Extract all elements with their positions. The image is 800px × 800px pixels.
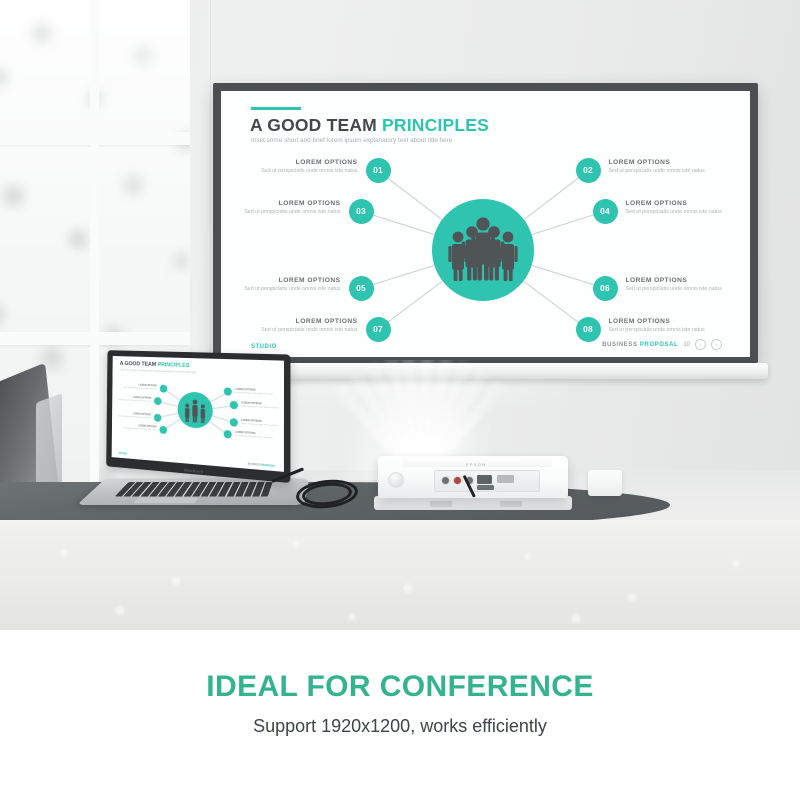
mini-title-accent: PRINCIPLES [158, 362, 190, 369]
diagram-label-heading: LOREM OPTIONS [626, 277, 751, 284]
diagram-label-desc: Sed ut perspiciatis unde omnis iste natu… [221, 168, 358, 174]
presentation-slide: A GOOD TEAM PRINCIPLES Inset some short … [221, 91, 750, 357]
mini-diagram-node-01 [160, 385, 168, 393]
diagram-label-heading: LOREM OPTIONS [626, 200, 751, 207]
projection-screen-canvas: A GOOD TEAM PRINCIPLES Inset some short … [221, 91, 750, 357]
port-audio-red[interactable] [453, 476, 462, 485]
diagram-node-03[interactable]: 03 [349, 199, 374, 224]
mini-diagram-label-04: LOREM OPTIONSSed ut perspiciatis unde om… [241, 401, 284, 410]
port-vga[interactable] [477, 475, 492, 484]
port-hdmi-lower[interactable] [477, 485, 494, 490]
product-feature-image: A GOOD TEAM PRINCIPLES Inset some short … [0, 0, 800, 800]
mini-diagram-label-08: LOREM OPTIONSSed ut perspiciatis unde om… [235, 431, 283, 440]
mini-diagram-node-03 [154, 397, 162, 405]
mini-diagram-node-06 [230, 418, 238, 427]
laptop-screen: A GOOD TEAM PRINCIPLES Inset some short … [112, 356, 284, 472]
slide-title-main: A GOOD TEAM [250, 115, 382, 135]
mini-diagram-spoke [161, 402, 178, 407]
mini-footer-label: BUSINESS PROPOSAL [248, 463, 276, 468]
slide-subtitle: Inset some short and brief lorem ipsum e… [251, 137, 452, 144]
mini-diagram-label-06: LOREM OPTIONSSed ut perspiciatis unde om… [241, 419, 284, 428]
diagram-label-desc: Sed ut perspiciatis unde omnis iste natu… [609, 168, 751, 174]
mini-diagram-label-03: LOREM OPTIONSSed ut perspiciatis unde om… [112, 395, 152, 403]
slide-footer-label: BUSINESS PROPOSAL [602, 342, 678, 348]
carpet [0, 520, 800, 630]
banner-headline: IDEAL FOR CONFERENCE [0, 670, 800, 704]
diagram-label-06: LOREM OPTIONSSed ut perspiciatis unde om… [626, 277, 751, 292]
carpet-texture [0, 520, 800, 630]
projector-vent [430, 501, 452, 507]
diagram-node-number: 02 [583, 165, 593, 175]
diagram-label-heading: LOREM OPTIONS [221, 318, 358, 325]
slide-page-number: 10 [683, 342, 690, 348]
slide-footer-right: BUSINESS PROPOSAL 10 ‹ › [602, 339, 722, 350]
photo-scene: A GOOD TEAM PRINCIPLES Inset some short … [0, 0, 800, 630]
mini-diagram-labels: LOREM OPTIONSSed ut perspiciatis unde om… [113, 356, 284, 361]
diagram-node-04[interactable]: 04 [593, 199, 618, 224]
diagram-label-03: LOREM OPTIONSSed ut perspiciatis unde om… [221, 200, 341, 215]
laptop-keyboard[interactable] [115, 482, 273, 496]
diagram-node-06[interactable]: 06 [593, 276, 618, 301]
mini-diagram-label-07: LOREM OPTIONSSed ut perspiciatis unde om… [115, 423, 157, 432]
chevron-left-icon[interactable]: ‹ [695, 339, 706, 350]
title-accent-bar [251, 107, 301, 110]
diagram-node-05[interactable]: 05 [349, 276, 374, 301]
diagram-label-heading: LOREM OPTIONS [609, 159, 751, 166]
projection-screen: A GOOD TEAM PRINCIPLES Inset some short … [213, 83, 758, 363]
mini-diagram-label-01: LOREM OPTIONSSed ut perspiciatis unde om… [115, 383, 157, 391]
mini-diagram-node-07 [159, 426, 167, 434]
mini-diagram-nodes [113, 356, 284, 361]
mini-diagram-node-04 [230, 401, 238, 410]
diagram-node-number: 07 [373, 324, 383, 334]
diagram-label-desc: Sed ut perspiciatis unde omnis iste natu… [221, 327, 358, 333]
projector-base [374, 496, 572, 510]
caption-banner: IDEAL FOR CONFERENCE Support 1920x1200, … [0, 630, 800, 800]
people-group-icon [432, 199, 534, 301]
diagram-label-heading: LOREM OPTIONS [221, 277, 341, 284]
port-hdmi[interactable] [497, 475, 514, 483]
mini-diagram-node-05 [154, 414, 162, 422]
mini-diagram-hub [177, 391, 212, 429]
diagram-node-number: 01 [373, 165, 383, 175]
slide-title: A GOOD TEAM PRINCIPLES [250, 115, 489, 136]
diagram-label-heading: LOREM OPTIONS [221, 159, 358, 166]
projector-lens [388, 472, 404, 488]
diagram-label-02: LOREM OPTIONSSed ut perspiciatis unde om… [609, 159, 751, 174]
diagram-label-05: LOREM OPTIONSSed ut perspiciatis unde om… [221, 277, 341, 292]
laptop-brand: MacBook [184, 467, 203, 474]
diagram-label-01: LOREM OPTIONSSed ut perspiciatis unde om… [221, 159, 358, 174]
laptop-base [77, 479, 309, 505]
port-round[interactable] [441, 476, 450, 485]
diagram-label-07: LOREM OPTIONSSed ut perspiciatis unde om… [221, 318, 358, 333]
mini-footer-accent: PROPOSAL [261, 464, 275, 468]
footer-label-accent: PROPOSAL [640, 342, 678, 348]
laptop-trackpad[interactable] [133, 497, 198, 503]
mini-diagram-spoke [212, 416, 230, 422]
mini-diagram-spoke [161, 414, 178, 418]
diagram-label-heading: LOREM OPTIONS [221, 200, 341, 207]
diagram-node-number: 05 [356, 283, 366, 293]
mini-diagram-label-05: LOREM OPTIONSSed ut perspiciatis unde om… [112, 411, 152, 419]
mini-diagram-node-08 [224, 430, 232, 439]
diagram-label-desc: Sed ut perspiciatis unde omnis iste natu… [626, 286, 751, 292]
mini-diagram-spokes [113, 356, 284, 361]
diagram-spoke [531, 215, 593, 236]
projector[interactable]: EPSON [372, 452, 577, 524]
diagram-spoke [373, 265, 435, 285]
slide-footer-brand: STUDIO [251, 344, 277, 350]
diagram-label-desc: Sed ut perspiciatis unde omnis iste natu… [609, 327, 751, 333]
diagram-spoke [532, 265, 594, 285]
slide-footer: STUDIO BUSINESS PROPOSAL 10 ‹ › [221, 338, 750, 350]
projector-port-panel [434, 470, 540, 492]
banner-subhead: Support 1920x1200, works efficiently [0, 716, 800, 737]
diagram-label-08: LOREM OPTIONSSed ut perspiciatis unde om… [609, 318, 751, 333]
diagram-label-desc: Sed ut perspiciatis unde omnis iste natu… [626, 209, 751, 215]
diagram-node-number: 04 [600, 206, 610, 216]
slide-title-accent: PRINCIPLES [382, 115, 489, 135]
chevron-right-icon[interactable]: › [711, 339, 722, 350]
table-object [588, 470, 622, 496]
mini-footer-plain: BUSINESS [248, 463, 261, 467]
diagram-node-number: 03 [356, 206, 366, 216]
diagram-spoke [373, 215, 435, 236]
diagram-node-01[interactable]: 01 [366, 158, 391, 183]
laptop[interactable]: A GOOD TEAM PRINCIPLES Inset some short … [92, 352, 307, 527]
mini-diagram-node-02 [224, 387, 232, 395]
diagram-label-desc: Sed ut perspiciatis unde omnis iste natu… [221, 209, 341, 215]
footer-label-plain: BUSINESS [602, 342, 640, 348]
projector-brand: EPSON [466, 463, 487, 467]
diagram-node-02[interactable]: 02 [576, 158, 601, 183]
mini-slide-title: A GOOD TEAM PRINCIPLES [120, 361, 190, 369]
diagram-node-number: 06 [600, 283, 610, 293]
diagram-label-heading: LOREM OPTIONS [609, 318, 751, 325]
projector-vent [500, 501, 522, 507]
diagram-label-04: LOREM OPTIONSSed ut perspiciatis unde om… [626, 200, 751, 215]
mini-title-main: A GOOD TEAM [120, 361, 158, 368]
laptop-lid: A GOOD TEAM PRINCIPLES Inset some short … [106, 350, 290, 483]
diagram-label-desc: Sed ut perspiciatis unde omnis iste natu… [221, 286, 341, 292]
mini-footer-brand: STUDIO [119, 452, 127, 456]
diagram-node-number: 08 [583, 324, 593, 334]
mini-diagram-spoke [212, 406, 230, 409]
mini-slide-subtitle: Inset some short and brief lorem ipsum e… [120, 369, 196, 375]
mini-diagram-label-02: LOREM OPTIONSSed ut perspiciatis unde om… [235, 388, 283, 396]
